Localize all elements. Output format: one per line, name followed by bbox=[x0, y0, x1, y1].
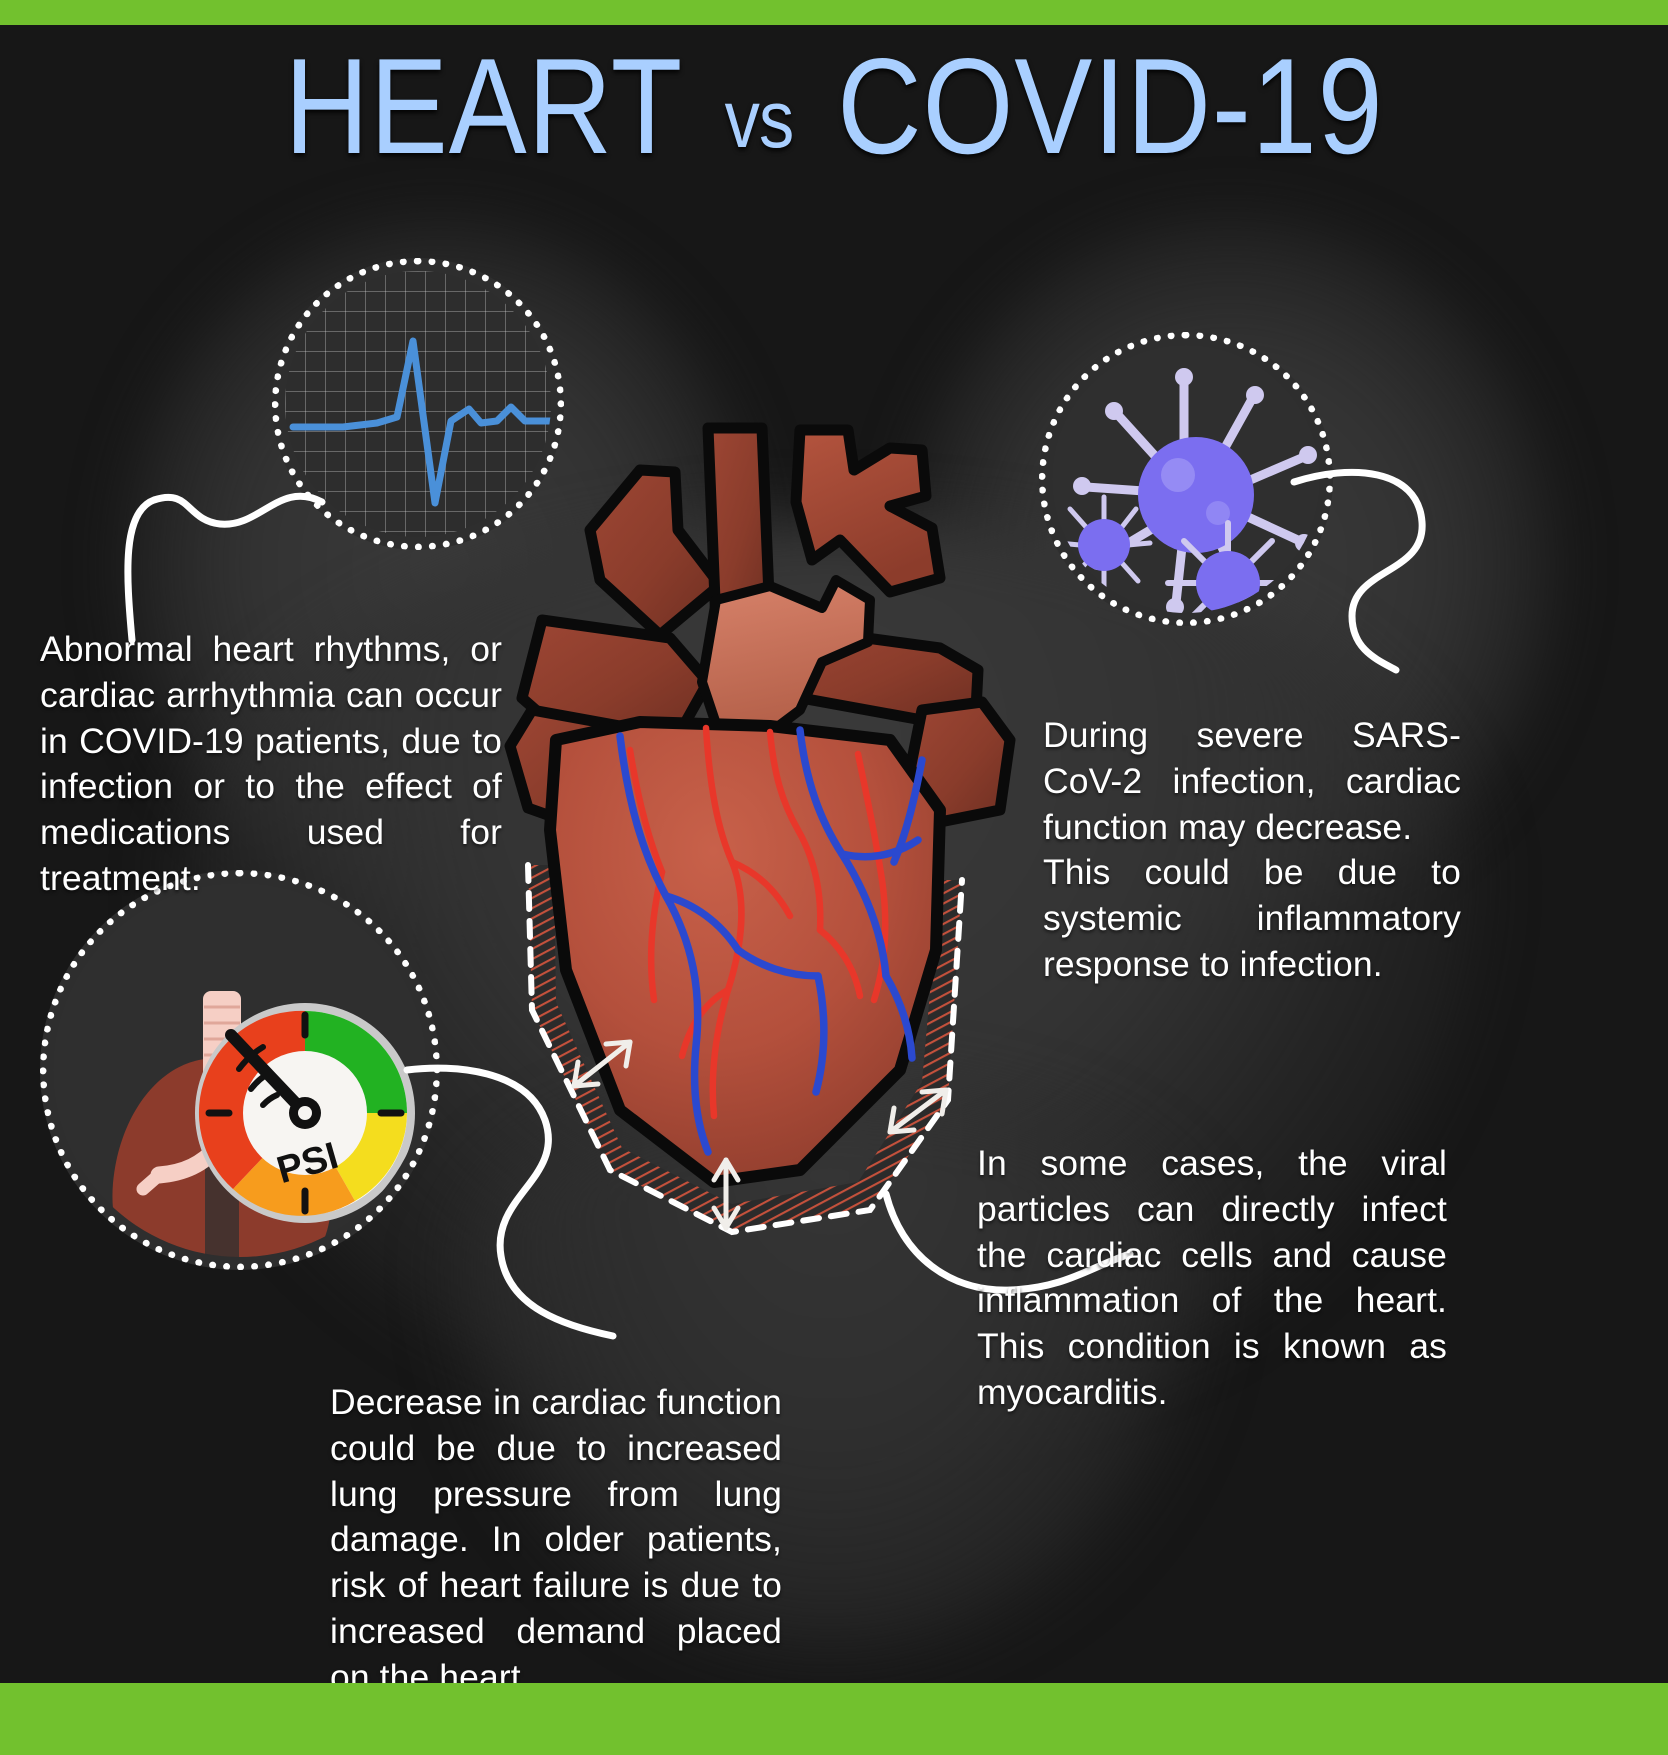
lung-pressure-paragraph: Decrease in cardiac function could be du… bbox=[330, 1380, 782, 1700]
sars-paragraph-1: During severe SARS-CoV-2 infection, card… bbox=[1043, 713, 1461, 850]
virus-large bbox=[1073, 368, 1317, 613]
title-part-covid: COVID-19 bbox=[837, 30, 1383, 182]
ecg-trace bbox=[285, 271, 551, 537]
page-title: HEART vs COVID-19 bbox=[117, 38, 1551, 174]
callout-text-sars: During severe SARS-CoV-2 infection, card… bbox=[1043, 713, 1461, 988]
callout-text-myocarditis: In some cases, the viral particles can d… bbox=[977, 1141, 1447, 1416]
title-part-vs: vs bbox=[714, 74, 803, 165]
lungs-pressure-gauge-icon: PSI bbox=[40, 870, 440, 1270]
psi-gauge-icon: PSI bbox=[195, 1003, 415, 1223]
sars-paragraph-2: This could be due to systemic inflammato… bbox=[1043, 850, 1461, 987]
bottom-accent-border bbox=[0, 1683, 1668, 1755]
infographic-poster: HEART vs COVID-19 bbox=[0, 0, 1668, 1755]
arrhythmia-paragraph: Abnormal heart rhythms, or cardiac arrhy… bbox=[40, 627, 502, 902]
title-part-heart: HEART bbox=[285, 30, 681, 182]
callout-text-lung-pressure: Decrease in cardiac function could be du… bbox=[330, 1380, 782, 1700]
coronavirus-particles-icon bbox=[1039, 332, 1333, 626]
virus-small-left bbox=[1058, 497, 1150, 591]
callout-text-arrhythmia: Abnormal heart rhythms, or cardiac arrhy… bbox=[40, 627, 502, 902]
myocarditis-paragraph: In some cases, the viral particles can d… bbox=[977, 1141, 1447, 1416]
ecg-waveform-icon bbox=[272, 258, 564, 550]
anatomical-heart-illustration bbox=[470, 410, 1050, 1240]
top-accent-border bbox=[0, 0, 1668, 25]
